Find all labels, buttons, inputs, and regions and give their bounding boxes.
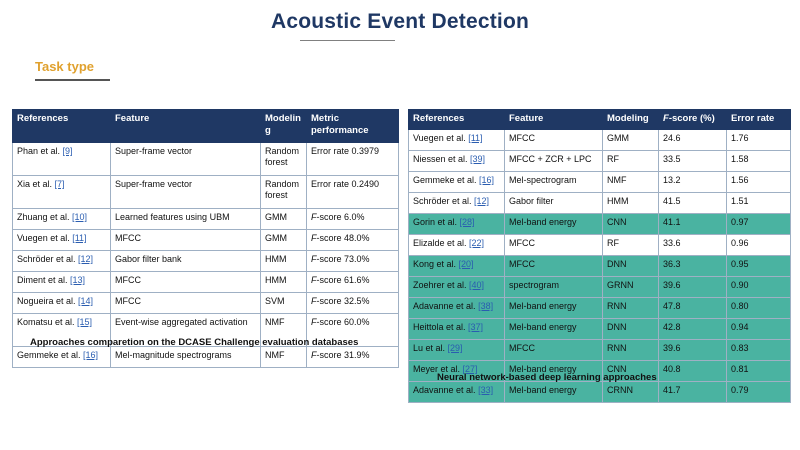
- reference-number-link[interactable]: [40]: [469, 280, 484, 290]
- task-type-underline-rule: [35, 79, 110, 81]
- reference-author: Komatsu et al.: [17, 317, 77, 327]
- cell-feature: Super-frame vector: [111, 176, 261, 209]
- cell-modeling: RF: [603, 235, 659, 256]
- cell-reference: Lu et al. [29]: [409, 340, 505, 361]
- cell-reference: Gemmeke et al. [16]: [13, 347, 111, 368]
- cell-metric-performance: F-score 32.5%: [307, 293, 399, 314]
- cell-feature: Mel-band energy: [505, 298, 603, 319]
- table-deep-learning-approaches: References Feature Modeling F-score (%) …: [408, 109, 791, 403]
- reference-number-link[interactable]: [28]: [460, 217, 475, 227]
- cell-metric-performance: F-score 6.0%: [307, 209, 399, 230]
- reference-number-link[interactable]: [22]: [469, 238, 484, 248]
- metric-value: -score 31.9%: [317, 350, 370, 360]
- cell-error-rate: 0.94: [727, 319, 791, 340]
- table-row: Heittola et al. [37]Mel-band energyDNN42…: [409, 319, 791, 340]
- cell-feature: MFCC: [111, 293, 261, 314]
- reference-number-link[interactable]: [15]: [77, 317, 92, 327]
- cell-reference: Kong et al. [20]: [409, 256, 505, 277]
- cell-feature: MFCC: [111, 272, 261, 293]
- cell-fscore: 41.7: [659, 382, 727, 403]
- cell-reference: Vuegen et al. [11]: [409, 130, 505, 151]
- cell-feature: MFCC: [505, 256, 603, 277]
- table-row: Schröder et al. [12]Gabor filter bankHMM…: [13, 251, 399, 272]
- table-row: Zhuang et al. [10]Learned features using…: [13, 209, 399, 230]
- cell-fscore: 41.1: [659, 214, 727, 235]
- reference-number-link[interactable]: [12]: [474, 196, 489, 206]
- table-row: Gemmeke et al. [16]Mel-magnitude spectro…: [13, 347, 399, 368]
- cell-metric-performance: F-score 31.9%: [307, 347, 399, 368]
- column-header-references: References: [13, 110, 111, 143]
- reference-author: Gemmeke et al.: [17, 350, 83, 360]
- cell-error-rate: 0.90: [727, 277, 791, 298]
- cell-fscore: 24.6: [659, 130, 727, 151]
- cell-fscore: 40.8: [659, 361, 727, 382]
- reference-author: Gemmeke et al.: [413, 175, 479, 185]
- cell-modeling: Random forest: [261, 176, 307, 209]
- cell-metric-performance: Error rate 0.2490: [307, 176, 399, 209]
- reference-author: Nogueira et al.: [17, 296, 78, 306]
- cell-feature: MFCC + ZCR + LPC: [505, 151, 603, 172]
- column-header-modeling: Modeling: [603, 110, 659, 130]
- metric-value: -score 60.0%: [317, 317, 370, 327]
- column-header-references: References: [409, 110, 505, 130]
- cell-fscore: 47.8: [659, 298, 727, 319]
- reference-number-link[interactable]: [33]: [478, 385, 493, 395]
- reference-number-link[interactable]: [14]: [78, 296, 93, 306]
- reference-number-link[interactable]: [29]: [448, 343, 463, 353]
- caption-right-table: Neural network-based deep learning appro…: [437, 372, 657, 383]
- column-header-error-rate: Error rate: [727, 110, 791, 130]
- reference-number-link[interactable]: [9]: [63, 146, 73, 156]
- table-row: Elizalde et al. [22]MFCCRF33.60.96: [409, 235, 791, 256]
- cell-metric-performance: F-score 48.0%: [307, 230, 399, 251]
- reference-author: Vuegen et al.: [413, 133, 468, 143]
- cell-modeling: HMM: [261, 251, 307, 272]
- page-title: Acoustic Event Detection: [0, 10, 800, 34]
- table-row: Adavanne et al. [38]Mel-band energyRNN47…: [409, 298, 791, 319]
- cell-modeling: RNN: [603, 298, 659, 319]
- cell-feature: Mel-band energy: [505, 319, 603, 340]
- reference-number-link[interactable]: [13]: [70, 275, 85, 285]
- table-row: Adavanne et al. [33]Mel-band energyCRNN4…: [409, 382, 791, 403]
- cell-feature: Mel-spectrogram: [505, 172, 603, 193]
- reference-author: Schröder et al.: [413, 196, 474, 206]
- cell-reference: Gorin et al. [28]: [409, 214, 505, 235]
- cell-error-rate: 1.56: [727, 172, 791, 193]
- cell-modeling: DNN: [603, 319, 659, 340]
- cell-error-rate: 0.83: [727, 340, 791, 361]
- cell-modeling: HMM: [603, 193, 659, 214]
- cell-feature: spectrogram: [505, 277, 603, 298]
- table-row: Gemmeke et al. [16]Mel-spectrogramNMF13.…: [409, 172, 791, 193]
- cell-feature: Mel-band energy: [505, 214, 603, 235]
- cell-feature: MFCC: [505, 340, 603, 361]
- table-row: Vuegen et al. [11]MFCCGMMF-score 48.0%: [13, 230, 399, 251]
- table-row: Niessen et al. [39]MFCC + ZCR + LPCRF33.…: [409, 151, 791, 172]
- metric-value: Error rate 0.3979: [311, 146, 379, 156]
- metric-value: -score 32.5%: [317, 296, 370, 306]
- cell-fscore: 13.2: [659, 172, 727, 193]
- reference-number-link[interactable]: [16]: [479, 175, 494, 185]
- reference-author: Zhuang et al.: [17, 212, 72, 222]
- title-underline-rule: [300, 40, 395, 41]
- metric-value: -score 73.0%: [317, 254, 370, 264]
- reference-author: Vuegen et al.: [17, 233, 72, 243]
- table-header-row: References Feature Modeling F-score (%) …: [409, 110, 791, 130]
- cell-modeling: GRNN: [603, 277, 659, 298]
- cell-reference: Schröder et al. [12]: [409, 193, 505, 214]
- cell-feature: MFCC: [505, 235, 603, 256]
- metric-value: -score 6.0%: [317, 212, 365, 222]
- cell-feature: Super-frame vector: [111, 143, 261, 176]
- cell-modeling: DNN: [603, 256, 659, 277]
- cell-error-rate: 0.96: [727, 235, 791, 256]
- caption-left-table: Approaches comparetion on the DCASE Chal…: [30, 337, 358, 348]
- table-row: Zoehrer et al. [40]spectrogramGRNN39.60.…: [409, 277, 791, 298]
- cell-error-rate: 1.58: [727, 151, 791, 172]
- cell-error-rate: 0.79: [727, 382, 791, 403]
- reference-number-link[interactable]: [37]: [468, 322, 483, 332]
- cell-modeling: NMF: [603, 172, 659, 193]
- table-row: Schröder et al. [12]Gabor filterHMM41.51…: [409, 193, 791, 214]
- metric-value: -score 61.6%: [317, 275, 370, 285]
- fscore-header-rest: -score (%): [669, 113, 715, 124]
- cell-feature: MFCC: [111, 230, 261, 251]
- reference-author: Heittola et al.: [413, 322, 468, 332]
- column-header-metric-performance: Metric performance: [307, 110, 399, 143]
- cell-fscore: 33.5: [659, 151, 727, 172]
- cell-error-rate: 0.80: [727, 298, 791, 319]
- table-row: Phan et al. [9]Super-frame vectorRandom …: [13, 143, 399, 176]
- reference-author: Adavanne et al.: [413, 385, 478, 395]
- cell-reference: Adavanne et al. [33]: [409, 382, 505, 403]
- reference-number-link[interactable]: [20]: [459, 259, 474, 269]
- reference-author: Zoehrer et al.: [413, 280, 469, 290]
- cell-reference: Vuegen et al. [11]: [13, 230, 111, 251]
- reference-number-link[interactable]: [16]: [83, 350, 98, 360]
- cell-fscore: 39.6: [659, 340, 727, 361]
- reference-number-link[interactable]: [11]: [468, 133, 482, 143]
- reference-author: Gorin et al.: [413, 217, 460, 227]
- cell-modeling: HMM: [261, 272, 307, 293]
- cell-reference: Zoehrer et al. [40]: [409, 277, 505, 298]
- cell-reference: Heittola et al. [37]: [409, 319, 505, 340]
- metric-value: -score 48.0%: [317, 233, 370, 243]
- cell-modeling: CNN: [603, 214, 659, 235]
- cell-modeling: NMF: [261, 347, 307, 368]
- cell-feature: Mel-band energy: [505, 382, 603, 403]
- cell-reference: Xia et al. [7]: [13, 176, 111, 209]
- reference-author: Diment et al.: [17, 275, 70, 285]
- cell-modeling: CRNN: [603, 382, 659, 403]
- cell-reference: Elizalde et al. [22]: [409, 235, 505, 256]
- cell-feature: Learned features using UBM: [111, 209, 261, 230]
- reference-number-link[interactable]: [11]: [72, 233, 86, 243]
- cell-error-rate: 0.81: [727, 361, 791, 382]
- cell-fscore: 36.3: [659, 256, 727, 277]
- cell-error-rate: 1.51: [727, 193, 791, 214]
- table-row: Kong et al. [20]MFCCDNN36.30.95: [409, 256, 791, 277]
- reference-author: Kong et al.: [413, 259, 459, 269]
- cell-modeling: Random forest: [261, 143, 307, 176]
- cell-feature: Gabor filter bank: [111, 251, 261, 272]
- cell-modeling: GMM: [603, 130, 659, 151]
- reference-author: Xia et al.: [17, 179, 55, 189]
- cell-reference: Nogueira et al. [14]: [13, 293, 111, 314]
- cell-modeling: RNN: [603, 340, 659, 361]
- cell-reference: Adavanne et al. [38]: [409, 298, 505, 319]
- reference-author: Adavanne et al.: [413, 301, 478, 311]
- reference-author: Phan et al.: [17, 146, 63, 156]
- table-row: Vuegen et al. [11]MFCCGMM24.61.76: [409, 130, 791, 151]
- section-label-task-type: Task type: [35, 59, 94, 74]
- cell-metric-performance: Error rate 0.3979: [307, 143, 399, 176]
- cell-reference: Zhuang et al. [10]: [13, 209, 111, 230]
- column-header-feature: Feature: [505, 110, 603, 130]
- table-row: Nogueira et al. [14]MFCCSVMF-score 32.5%: [13, 293, 399, 314]
- cell-reference: Gemmeke et al. [16]: [409, 172, 505, 193]
- cell-feature: MFCC: [505, 130, 603, 151]
- table-row: Lu et al. [29]MFCCRNN39.60.83: [409, 340, 791, 361]
- table-row: Diment et al. [13]MFCCHMMF-score 61.6%: [13, 272, 399, 293]
- cell-reference: Diment et al. [13]: [13, 272, 111, 293]
- cell-feature: Mel-magnitude spectrograms: [111, 347, 261, 368]
- cell-modeling: GMM: [261, 209, 307, 230]
- table-row: Gorin et al. [28]Mel-band energyCNN41.10…: [409, 214, 791, 235]
- reference-author: Elizalde et al.: [413, 238, 469, 248]
- cell-fscore: 39.6: [659, 277, 727, 298]
- reference-number-link[interactable]: [39]: [470, 154, 485, 164]
- cell-reference: Phan et al. [9]: [13, 143, 111, 176]
- column-header-modeling: Modeling: [261, 110, 307, 143]
- cell-modeling: SVM: [261, 293, 307, 314]
- cell-error-rate: 0.95: [727, 256, 791, 277]
- cell-metric-performance: F-score 61.6%: [307, 272, 399, 293]
- table-header-row: References Feature Modeling Metric perfo…: [13, 110, 399, 143]
- cell-reference: Schröder et al. [12]: [13, 251, 111, 272]
- reference-number-link[interactable]: [10]: [72, 212, 87, 222]
- cell-modeling: RF: [603, 151, 659, 172]
- table-dcase-approaches: References Feature Modeling Metric perfo…: [12, 109, 399, 368]
- cell-fscore: 33.6: [659, 235, 727, 256]
- reference-number-link[interactable]: [38]: [478, 301, 493, 311]
- reference-author: Schröder et al.: [17, 254, 78, 264]
- metric-value: Error rate 0.2490: [311, 179, 379, 189]
- cell-fscore: 41.5: [659, 193, 727, 214]
- cell-metric-performance: F-score 73.0%: [307, 251, 399, 272]
- reference-number-link[interactable]: [7]: [55, 179, 65, 189]
- column-header-feature: Feature: [111, 110, 261, 143]
- reference-number-link[interactable]: [12]: [78, 254, 93, 264]
- reference-author: Niessen et al.: [413, 154, 470, 164]
- cell-reference: Niessen et al. [39]: [409, 151, 505, 172]
- cell-modeling: GMM: [261, 230, 307, 251]
- cell-error-rate: 1.76: [727, 130, 791, 151]
- table-row: Xia et al. [7]Super-frame vectorRandom f…: [13, 176, 399, 209]
- cell-feature: Gabor filter: [505, 193, 603, 214]
- cell-fscore: 42.8: [659, 319, 727, 340]
- reference-author: Lu et al.: [413, 343, 448, 353]
- column-header-fscore: F-score (%): [659, 110, 727, 130]
- cell-error-rate: 0.97: [727, 214, 791, 235]
